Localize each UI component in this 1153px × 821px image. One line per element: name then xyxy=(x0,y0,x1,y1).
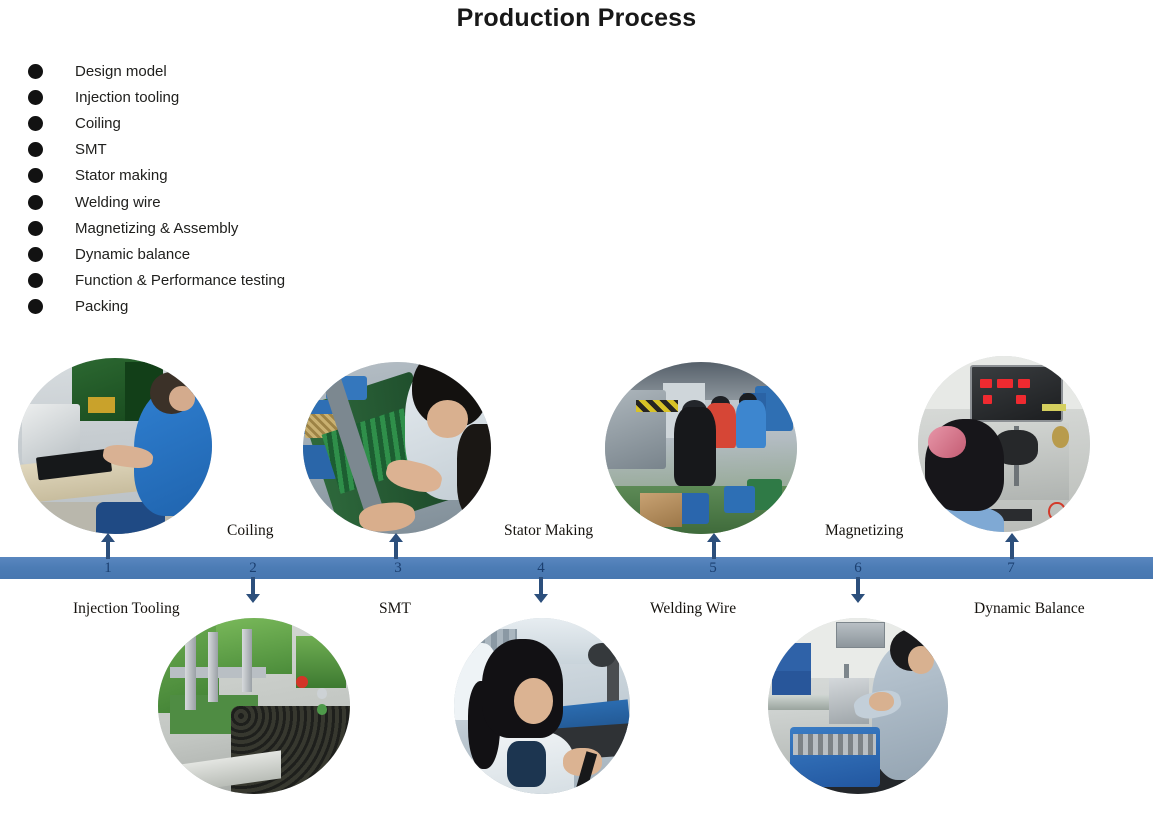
list-item-label: Welding wire xyxy=(75,194,161,211)
timeline-number-7: 7 xyxy=(991,558,1031,578)
bullet-icon xyxy=(28,90,43,105)
list-item: Welding wire xyxy=(28,189,468,215)
list-item: Function & Performance testing xyxy=(28,268,468,294)
list-item: Packing xyxy=(28,294,468,320)
list-item: SMT xyxy=(28,137,468,163)
bullet-icon xyxy=(28,273,43,288)
arrow-up-icon-step-1 xyxy=(99,533,117,559)
list-item: Stator making xyxy=(28,163,468,189)
bullet-icon xyxy=(28,299,43,314)
timeline-bar xyxy=(0,557,1153,579)
timeline-number-5: 5 xyxy=(693,558,733,578)
bullet-icon xyxy=(28,221,43,236)
bullet-icon xyxy=(28,195,43,210)
bullet-icon xyxy=(28,168,43,183)
step-label-injection-tooling: Injection Tooling xyxy=(73,600,180,618)
list-item-label: Injection tooling xyxy=(75,89,179,106)
list-item-label: Dynamic balance xyxy=(75,246,190,263)
list-item: Design model xyxy=(28,58,468,84)
list-item-label: Function & Performance testing xyxy=(75,272,285,289)
step-label-coiling: Coiling xyxy=(227,522,274,540)
step-label-welding-wire: Welding Wire xyxy=(650,600,736,618)
list-item-label: SMT xyxy=(75,141,107,158)
arrow-down-icon-step-4 xyxy=(532,577,550,603)
dynamic-balance-photo xyxy=(918,356,1090,532)
arrow-up-icon-step-5 xyxy=(705,533,723,559)
arrow-up-icon-step-3 xyxy=(387,533,405,559)
process-step-list: Design model Injection tooling Coiling S… xyxy=(28,58,468,320)
timeline-number-2: 2 xyxy=(233,558,273,578)
bullet-icon xyxy=(28,142,43,157)
list-item-label: Stator making xyxy=(75,167,168,184)
bullet-icon xyxy=(28,64,43,79)
step-label-smt: SMT xyxy=(379,600,411,618)
magnetizing-photo xyxy=(768,618,948,794)
list-item: Dynamic balance xyxy=(28,241,468,267)
list-item-label: Magnetizing & Assembly xyxy=(75,220,238,237)
step-label-magnetizing: Magnetizing xyxy=(825,522,903,540)
bullet-icon xyxy=(28,247,43,262)
list-item-label: Coiling xyxy=(75,115,121,132)
list-item-label: Design model xyxy=(75,63,167,80)
smt-line-photo xyxy=(303,362,491,534)
step-label-dynamic-balance: Dynamic Balance xyxy=(974,600,1085,618)
stator-making-photo xyxy=(454,618,630,794)
timeline-number-6: 6 xyxy=(838,558,878,578)
production-process-page: Production Process Design model Injectio… xyxy=(0,0,1153,821)
bullet-icon xyxy=(28,116,43,131)
arrow-down-icon-step-6 xyxy=(849,577,867,603)
welding-wire-photo xyxy=(605,362,797,534)
coiling-machine-photo xyxy=(158,618,350,794)
arrow-up-icon-step-7 xyxy=(1003,533,1021,559)
timeline-number-1: 1 xyxy=(88,558,128,578)
page-title: Production Process xyxy=(0,4,1153,33)
list-item-label: Packing xyxy=(75,298,128,315)
step-label-stator-making: Stator Making xyxy=(504,522,593,540)
timeline-number-3: 3 xyxy=(378,558,418,578)
list-item: Magnetizing & Assembly xyxy=(28,215,468,241)
list-item: Injection tooling xyxy=(28,84,468,110)
list-item: Coiling xyxy=(28,110,468,136)
timeline-number-4: 4 xyxy=(521,558,561,578)
arrow-down-icon-step-2 xyxy=(244,577,262,603)
injection-tooling-photo xyxy=(18,358,212,534)
